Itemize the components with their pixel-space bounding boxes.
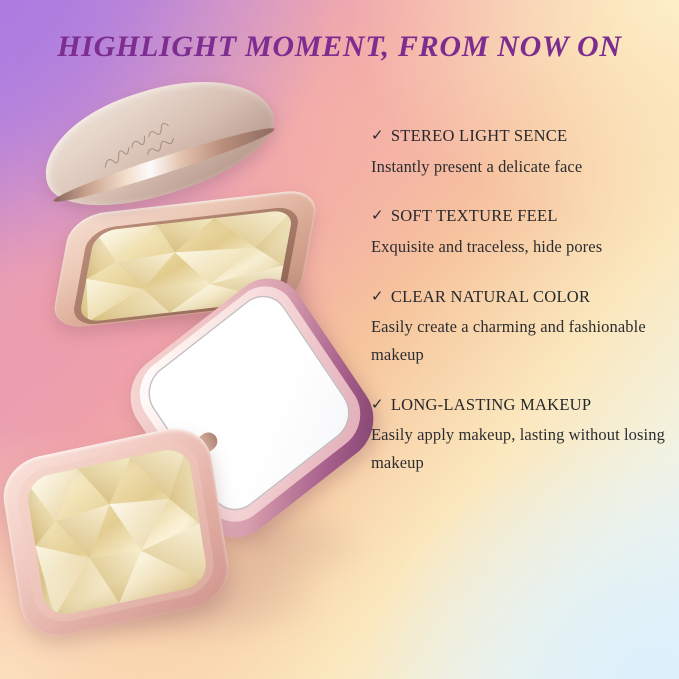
feature-heading-row: ✓ CLEAR NATURAL COLOR: [371, 287, 671, 308]
feature-item: ✓ STEREO LIGHT SENCE Instantly present a…: [371, 126, 671, 180]
product-image-compact-open-mirror: [8, 296, 364, 652]
feature-item: ✓ LONG-LASTING MAKEUP Easily apply makeu…: [371, 395, 671, 477]
feature-body: Easily create a charming and fashionable…: [371, 313, 671, 368]
feature-heading-row: ✓ LONG-LASTING MAKEUP: [371, 395, 671, 416]
product-image-compact-open-tilted: [34, 72, 344, 322]
feature-heading-row: ✓ SOFT TEXTURE FEEL: [371, 206, 671, 227]
check-icon: ✓: [371, 129, 384, 144]
feature-heading: SOFT TEXTURE FEEL: [391, 206, 558, 227]
feature-body: Easily apply makeup, lasting without los…: [371, 421, 671, 476]
feature-item: ✓ CLEAR NATURAL COLOR Easily create a ch…: [371, 287, 671, 369]
feature-item: ✓ SOFT TEXTURE FEEL Exquisite and tracel…: [371, 206, 671, 260]
check-icon: ✓: [371, 209, 384, 224]
feature-body: Exquisite and traceless, hide pores: [371, 233, 671, 261]
feature-heading: STEREO LIGHT SENCE: [391, 126, 568, 147]
product-poster: HIGHLIGHT MOMENT, FROM NOW ON: [0, 0, 679, 679]
page-title: HIGHLIGHT MOMENT, FROM NOW ON: [0, 30, 679, 64]
check-icon: ✓: [371, 290, 384, 305]
feature-body: Instantly present a delicate face: [371, 153, 671, 181]
feature-list: ✓ STEREO LIGHT SENCE Instantly present a…: [371, 126, 671, 477]
feature-heading: CLEAR NATURAL COLOR: [391, 287, 590, 308]
check-icon: ✓: [371, 398, 384, 413]
feature-heading-row: ✓ STEREO LIGHT SENCE: [371, 126, 671, 147]
feature-heading: LONG-LASTING MAKEUP: [391, 395, 591, 416]
